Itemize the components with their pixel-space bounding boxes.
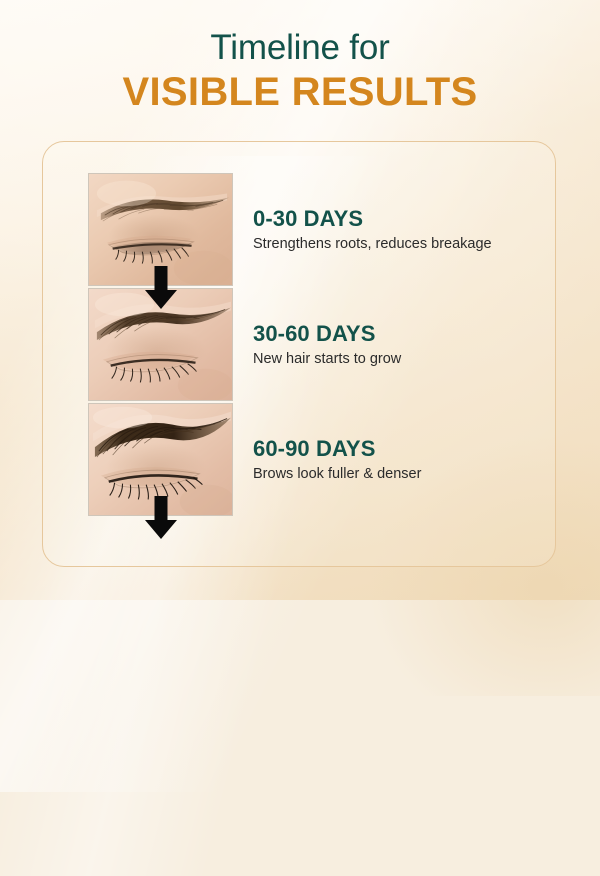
arrow-down-icon xyxy=(143,496,179,540)
page-title-line-two: VISIBLE RESULTS xyxy=(0,72,600,112)
page-title: Timeline for VISIBLE RESULTS xyxy=(0,30,600,112)
timeline-step-title: 0-30 DAYS xyxy=(253,207,518,230)
timeline-step-text: 0-30 DAYS Strengthens roots, reduces bre… xyxy=(253,207,518,253)
timeline-step-title: 30-60 DAYS xyxy=(253,322,518,345)
timeline-step-text: 30-60 DAYS New hair starts to grow xyxy=(253,322,518,368)
timeline-step-title: 60-90 DAYS xyxy=(253,437,518,460)
timeline-step-description: New hair starts to grow xyxy=(253,351,518,368)
timeline-step: 0-30 DAYS Strengthens roots, reduces bre… xyxy=(88,173,518,288)
timeline-step-description: Strengthens roots, reduces breakage xyxy=(253,236,518,253)
timeline-list: 0-30 DAYS Strengthens roots, reduces bre… xyxy=(88,173,518,529)
page-title-line-one: Timeline for xyxy=(0,30,600,65)
arrow-down-icon xyxy=(143,266,179,310)
timeline-step-description: Brows look fuller & denser xyxy=(253,466,518,483)
timeline-step-text: 60-90 DAYS Brows look fuller & denser xyxy=(253,437,518,483)
